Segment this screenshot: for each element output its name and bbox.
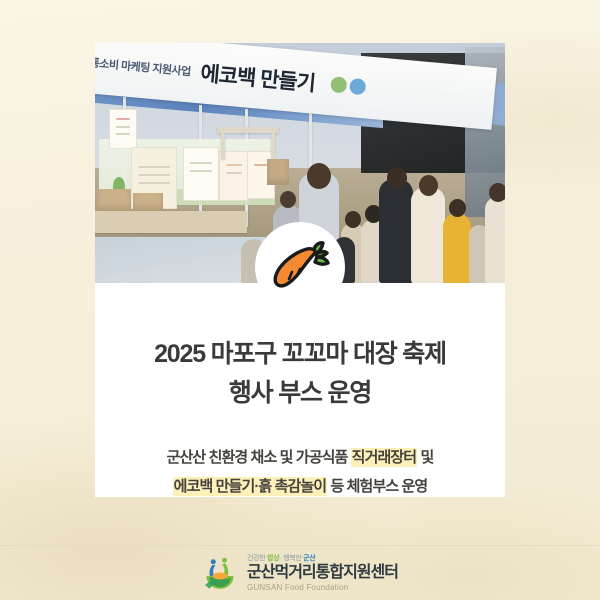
photo-person xyxy=(379,179,413,283)
footer: 건강한 밥상· 행복한 군산 군산먹거리통합지원센터 GUNSAN Food F… xyxy=(0,546,600,600)
carrot-badge xyxy=(255,222,345,312)
photo-person-head xyxy=(489,183,505,202)
photo-tarp xyxy=(95,237,265,283)
poster-page: 통소비 마케팅 지원사업 에코백 만들기 2025 마포구 꼬꼬마 대장 축제 … xyxy=(0,0,600,600)
photo-table xyxy=(221,133,225,159)
photo-table xyxy=(217,127,279,133)
subtitle-line-2-suffix: 등 체험부스 운영 xyxy=(327,478,427,495)
photo-poster xyxy=(109,109,137,149)
photo-person-head xyxy=(280,191,296,208)
photo-banner-main-text: 에코백 만들기 xyxy=(199,57,316,97)
title-line-2: 행사 부스 운영 xyxy=(95,374,505,413)
text-block: 2025 마포구 꼬꼬마 대장 축제 행사 부스 운영 군산산 친환경 채소 및… xyxy=(95,283,505,497)
subtitle-highlight-activities: 에코백 만들기·흙 촉감놀이 xyxy=(173,477,328,496)
page-subtitle: 군산산 친환경 채소 및 가공식품 직거래장터 및 에코백 만들기·흙 촉감놀이… xyxy=(95,443,505,498)
brand-tagline-blue: 군산 xyxy=(303,555,315,562)
subtitle-line-1-suffix: 및 xyxy=(417,449,433,466)
photo-banner-logos xyxy=(330,76,366,95)
photo-table xyxy=(271,133,275,159)
photo-person-head xyxy=(387,167,407,189)
subtitle-line-2: 에코백 만들기·흙 촉감놀이 등 체험부스 운영 xyxy=(95,472,505,497)
photo-poster xyxy=(183,147,219,201)
photo-box xyxy=(267,159,289,185)
photo-table xyxy=(95,211,247,233)
subtitle-line-1-prefix: 군산산 친환경 채소 및 가공식품 xyxy=(167,449,351,466)
photo-banner-small-text: 통소비 마케팅 지원사업 xyxy=(95,54,191,79)
brand-tagline-green: 밥상 xyxy=(267,555,279,562)
photo-person xyxy=(411,187,445,283)
subtitle-highlight-market: 직거래장터 xyxy=(351,448,418,467)
brand-tagline-pre: 건강한 xyxy=(247,555,267,562)
gunsan-food-foundation-logo-icon xyxy=(202,555,238,591)
photo-person-head xyxy=(419,175,438,196)
carrot-icon xyxy=(269,241,331,293)
brand-tagline-mid: · 행복한 xyxy=(279,555,303,562)
subtitle-line-1: 군산산 친환경 채소 및 가공식품 직거래장터 및 xyxy=(95,443,505,472)
banner-logo-blue-icon xyxy=(349,78,366,95)
photo-person xyxy=(485,197,505,283)
title-line-1: 2025 마포구 꼬꼬마 대장 축제 xyxy=(154,340,446,368)
page-title: 2025 마포구 꼬꼬마 대장 축제 행사 부스 운영 xyxy=(95,335,505,413)
photo-box xyxy=(133,193,163,211)
brand-text: 건강한 밥상· 행복한 군산 군산먹거리통합지원센터 GUNSAN Food F… xyxy=(247,555,398,592)
banner-logo-green-icon xyxy=(330,76,347,93)
brand-name-en: GUNSAN Food Foundation xyxy=(247,584,398,592)
photo-person-head xyxy=(449,199,466,217)
photo-person xyxy=(443,213,471,283)
photo-person-head xyxy=(345,211,361,228)
brand-name-ko: 군산먹거리통합지원센터 xyxy=(247,565,398,581)
photo-box xyxy=(97,189,131,211)
brand-tagline: 건강한 밥상· 행복한 군산 xyxy=(247,555,398,562)
photo-person-head xyxy=(307,163,331,189)
